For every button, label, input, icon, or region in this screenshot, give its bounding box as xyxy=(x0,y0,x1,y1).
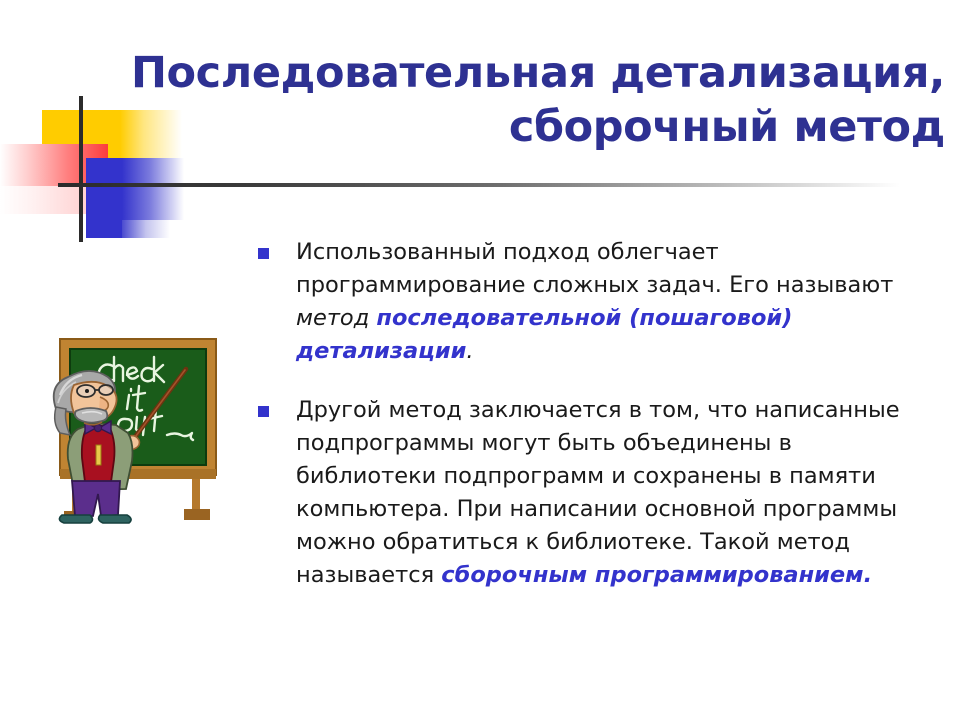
teacher-bowtie-knot xyxy=(94,424,101,431)
bullet-1-seg-1: метод xyxy=(296,305,376,331)
slide: Последовательная детализация, сборочный … xyxy=(0,0,960,720)
bullet-text-1: Использованный подход облегчает программ… xyxy=(296,236,932,368)
ornament-blue-square xyxy=(86,158,122,220)
ornament-blue-fade xyxy=(122,158,184,220)
bullet-1-seg-0: Использованный подход облегчает программ… xyxy=(296,239,893,298)
board-foot-right xyxy=(184,509,210,520)
list-item: Использованный подход облегчает программ… xyxy=(252,236,932,368)
square-bullet-icon xyxy=(258,248,269,259)
list-item: Другой метод заключается в том, что напи… xyxy=(252,394,932,592)
ornament-blue-tail xyxy=(86,220,122,238)
teacher-at-chalkboard-illustration xyxy=(34,333,250,525)
header-horizontal-rule xyxy=(58,183,900,187)
teacher-shoe-left xyxy=(59,515,92,523)
bullet-list: Использованный подход облегчает программ… xyxy=(252,236,932,618)
square-bullet-icon xyxy=(258,406,269,417)
teacher-shoe-right xyxy=(99,515,132,523)
page-title: Последовательная детализация, сборочный … xyxy=(90,46,945,154)
ornament-blue-tail-fade xyxy=(122,220,170,238)
teacher-glasses-right-lens xyxy=(99,385,113,395)
bullet-text-2: Другой метод заключается в том, что напи… xyxy=(296,394,932,592)
bullet-2-seg-0: Другой метод заключается в том, что напи… xyxy=(296,397,900,588)
teacher-eye xyxy=(85,389,89,393)
ornament-red-lower-fade xyxy=(0,186,86,214)
ornament-vertical-rule xyxy=(79,96,83,242)
teacher-mustache xyxy=(75,408,107,423)
teacher-trousers xyxy=(72,481,120,516)
bullet-1-seg-3: . xyxy=(466,338,473,364)
teacher-vest-buttons xyxy=(96,445,101,465)
bullet-2-seg-1: сборочным программированием. xyxy=(441,562,872,588)
